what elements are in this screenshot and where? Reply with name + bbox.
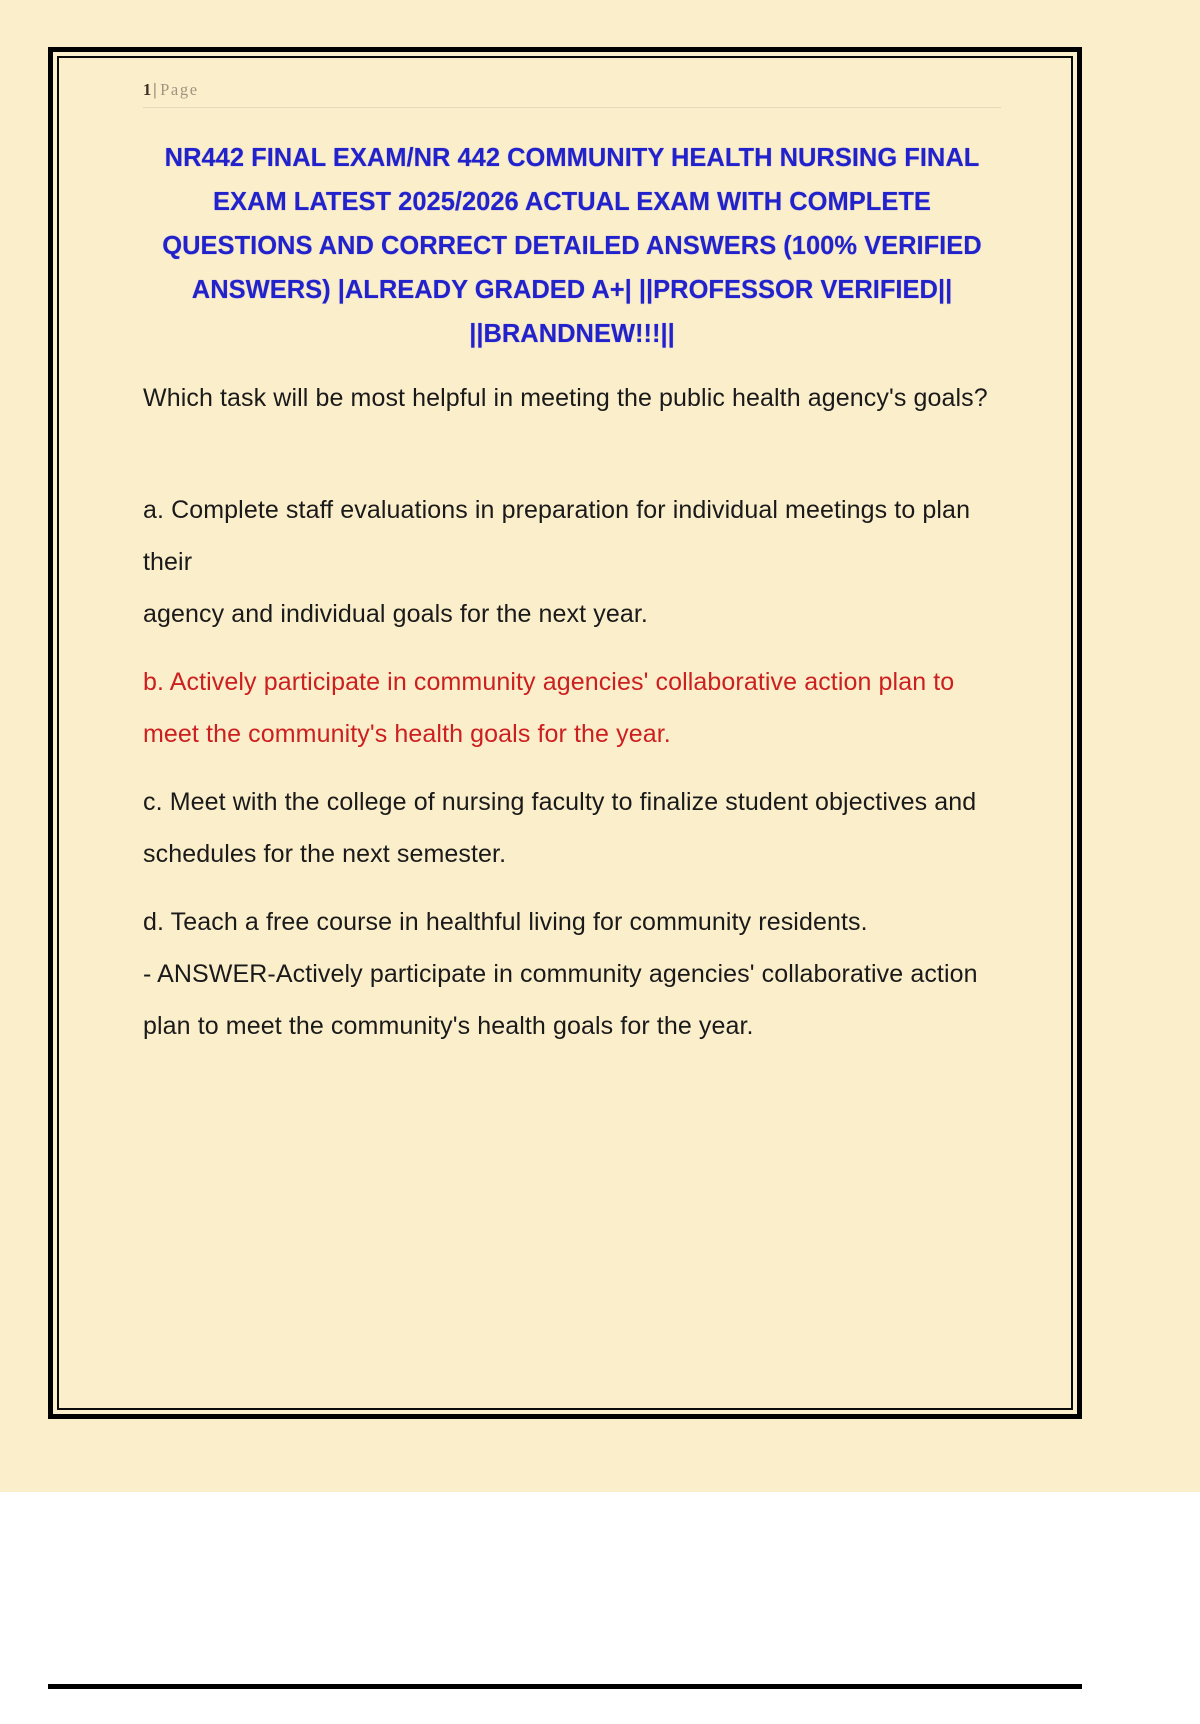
option-d: d. Teach a free course in healthful livi… (143, 896, 1001, 948)
option-a-line-2: agency and individual goals for the next… (143, 588, 1001, 640)
page-border-outer: 1|Page NR442 FINAL EXAM/NR 442 COMMUNITY… (48, 47, 1082, 1419)
page-content: 1|Page NR442 FINAL EXAM/NR 442 COMMUNITY… (73, 72, 1057, 1394)
exam-question: Which task will be most helpful in meeti… (143, 372, 1001, 424)
option-c-line-1: c. Meet with the college of nursing facu… (143, 776, 1001, 828)
answer-text: - ANSWER-Actively participate in communi… (143, 948, 1001, 1052)
page-2-border-top (48, 1684, 1082, 1724)
page-gap (0, 1492, 1200, 1622)
option-a-line-1: a. Complete staff evaluations in prepara… (143, 484, 1001, 588)
document-page-2 (0, 1622, 1200, 1700)
header-divider (143, 107, 1001, 108)
page-number: 1 (143, 80, 151, 99)
option-c-line-2: schedules for the next semester. (143, 828, 1001, 880)
option-b: b. Actively participate in community age… (143, 656, 1001, 760)
page-header-label: Page (160, 80, 198, 99)
document-title: NR442 FINAL EXAM/NR 442 COMMUNITY HEALTH… (143, 136, 1001, 356)
page-border-inner: 1|Page NR442 FINAL EXAM/NR 442 COMMUNITY… (57, 56, 1073, 1410)
page-header-separator: | (151, 80, 160, 99)
document-page-1: 1|Page NR442 FINAL EXAM/NR 442 COMMUNITY… (0, 0, 1200, 1492)
page-header: 1|Page (143, 80, 1001, 107)
